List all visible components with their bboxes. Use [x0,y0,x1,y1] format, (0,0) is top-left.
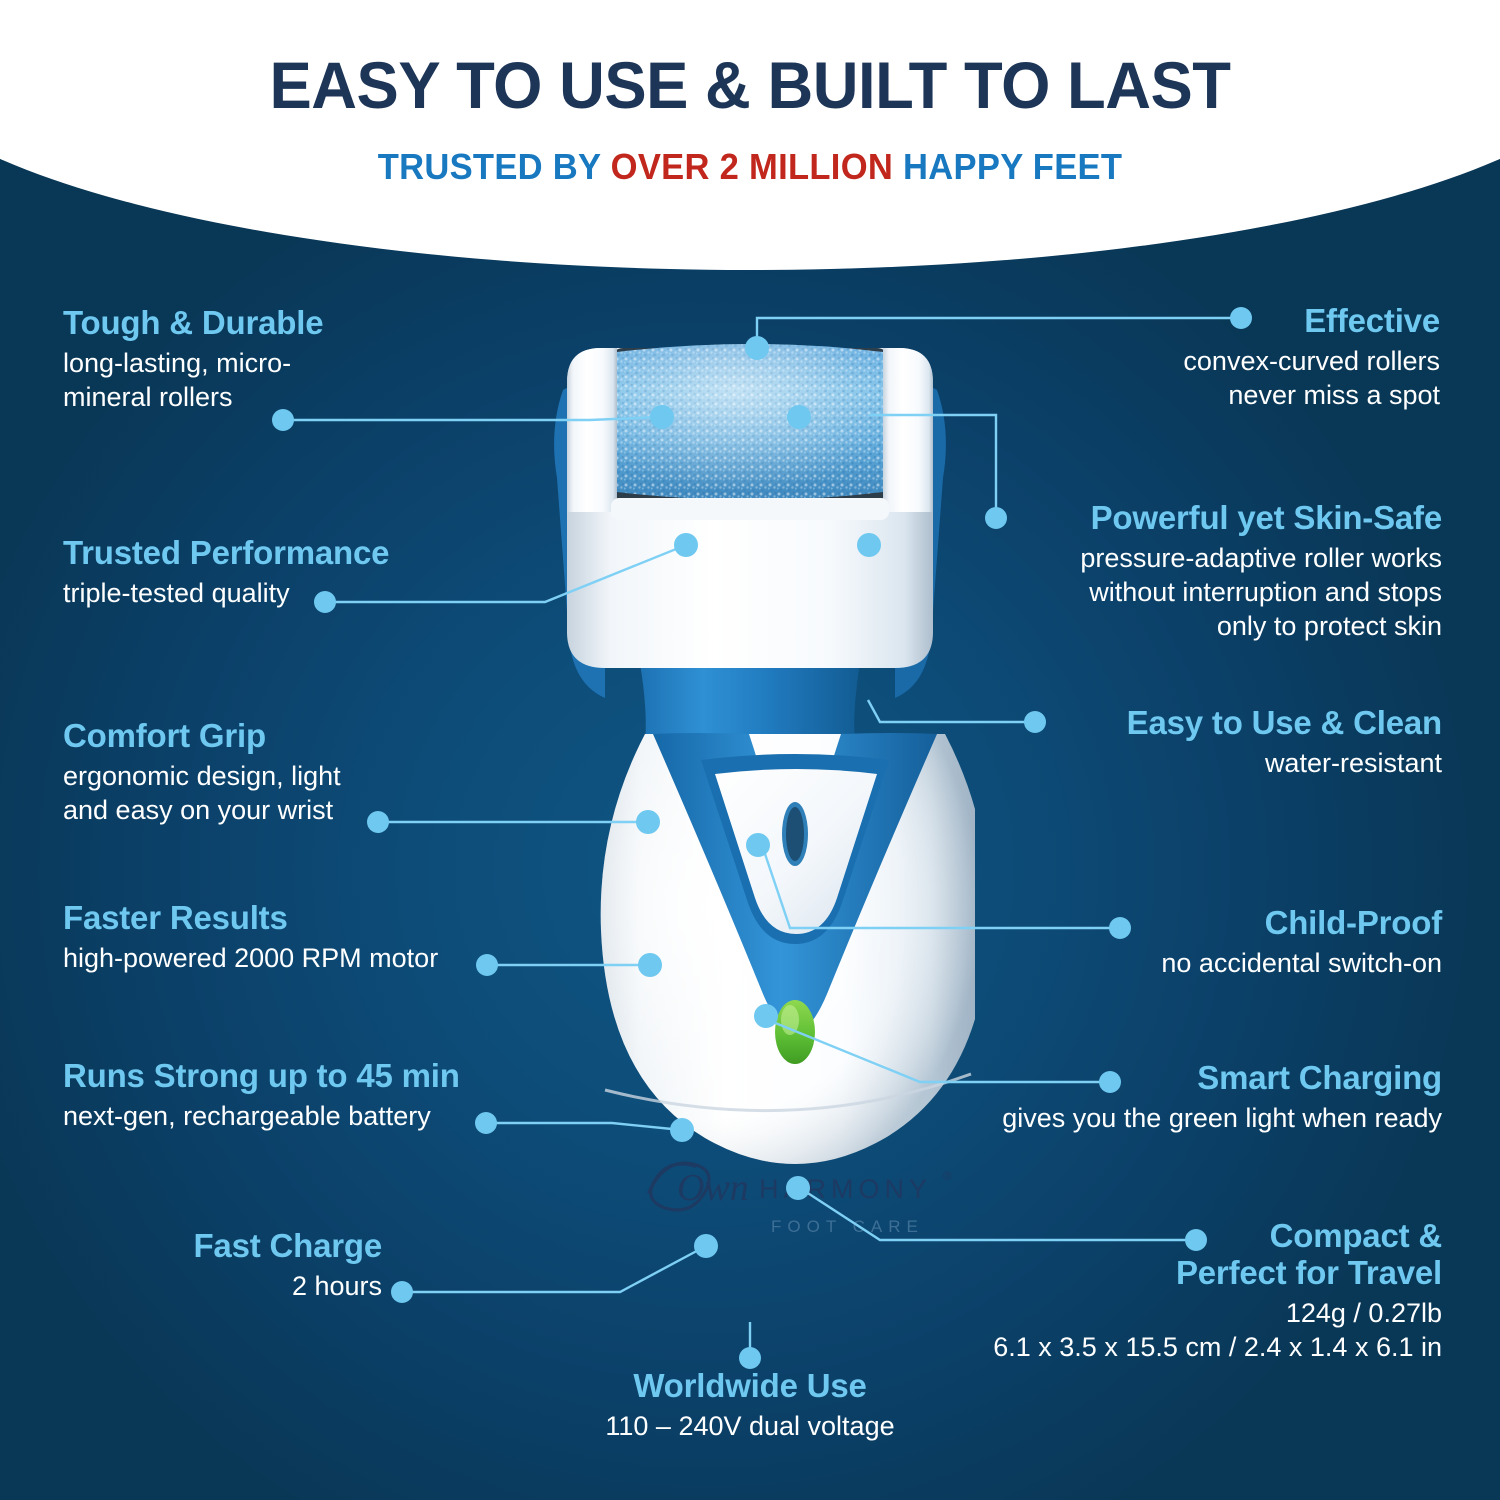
callout-easy-use-clean-body: water-resistant [1000,746,1442,780]
callout-powerful-skin-safe: Powerful yet Skin-Safe pressure-adaptive… [960,500,1442,643]
callout-runs-strong: Runs Strong up to 45 min next-gen, recha… [63,1058,583,1133]
callout-smart-charging-title: Smart Charging [950,1060,1442,1097]
callout-compact-travel-title: Compact & Perfect for Travel [930,1218,1442,1292]
callout-effective: Effective convex-curved rollers never mi… [1030,303,1440,412]
infographic-canvas: EASY TO USE & BUILT TO LAST TRUSTED BY O… [0,0,1500,1500]
callout-faster-results-body: high-powered 2000 RPM motor [63,941,503,975]
callout-worldwide-use-body: 110 – 240V dual voltage [520,1409,980,1443]
callout-compact-travel: Compact & Perfect for Travel 124g / 0.27… [930,1218,1442,1364]
callout-fast-charge: Fast Charge 2 hours [100,1228,382,1303]
callout-faster-results-title: Faster Results [63,900,503,937]
callout-trusted-performance-title: Trusted Performance [63,535,503,572]
callout-tough-durable-title: Tough & Durable [63,305,393,342]
callout-compact-travel-body: 124g / 0.27lb 6.1 x 3.5 x 15.5 cm / 2.4 … [930,1296,1442,1364]
callout-faster-results: Faster Results high-powered 2000 RPM mot… [63,900,503,975]
callout-powerful-skin-safe-title: Powerful yet Skin-Safe [960,500,1442,537]
callout-powerful-skin-safe-body: pressure-adaptive roller works without i… [960,541,1442,643]
callout-trusted-performance: Trusted Performance triple-tested qualit… [63,535,503,610]
callout-comfort-grip: Comfort Grip ergonomic design, light and… [63,718,463,827]
callout-effective-title: Effective [1030,303,1440,340]
callout-endpoint-dots [272,307,1252,1369]
callout-easy-use-clean: Easy to Use & Clean water-resistant [1000,705,1442,780]
callout-worldwide-use-title: Worldwide Use [520,1368,980,1405]
callout-easy-use-clean-title: Easy to Use & Clean [1000,705,1442,742]
callout-worldwide-use: Worldwide Use 110 – 240V dual voltage [520,1368,980,1443]
callout-runs-strong-title: Runs Strong up to 45 min [63,1058,583,1095]
callout-runs-strong-body: next-gen, rechargeable battery [63,1099,583,1133]
callout-tough-durable: Tough & Durable long-lasting, micro- min… [63,305,393,414]
callout-comfort-grip-body: ergonomic design, light and easy on your… [63,759,463,827]
callout-smart-charging: Smart Charging gives you the green light… [950,1060,1442,1135]
callout-child-proof-body: no accidental switch-on [1000,946,1442,980]
callout-fast-charge-title: Fast Charge [100,1228,382,1265]
callout-child-proof-title: Child-Proof [1000,905,1442,942]
callout-fast-charge-body: 2 hours [100,1269,382,1303]
callout-effective-body: convex-curved rollers never miss a spot [1030,344,1440,412]
callout-tough-durable-body: long-lasting, micro- mineral rollers [63,346,393,414]
callout-child-proof: Child-Proof no accidental switch-on [1000,905,1442,980]
callout-comfort-grip-title: Comfort Grip [63,718,463,755]
callout-trusted-performance-body: triple-tested quality [63,576,503,610]
callout-smart-charging-body: gives you the green light when ready [950,1101,1442,1135]
